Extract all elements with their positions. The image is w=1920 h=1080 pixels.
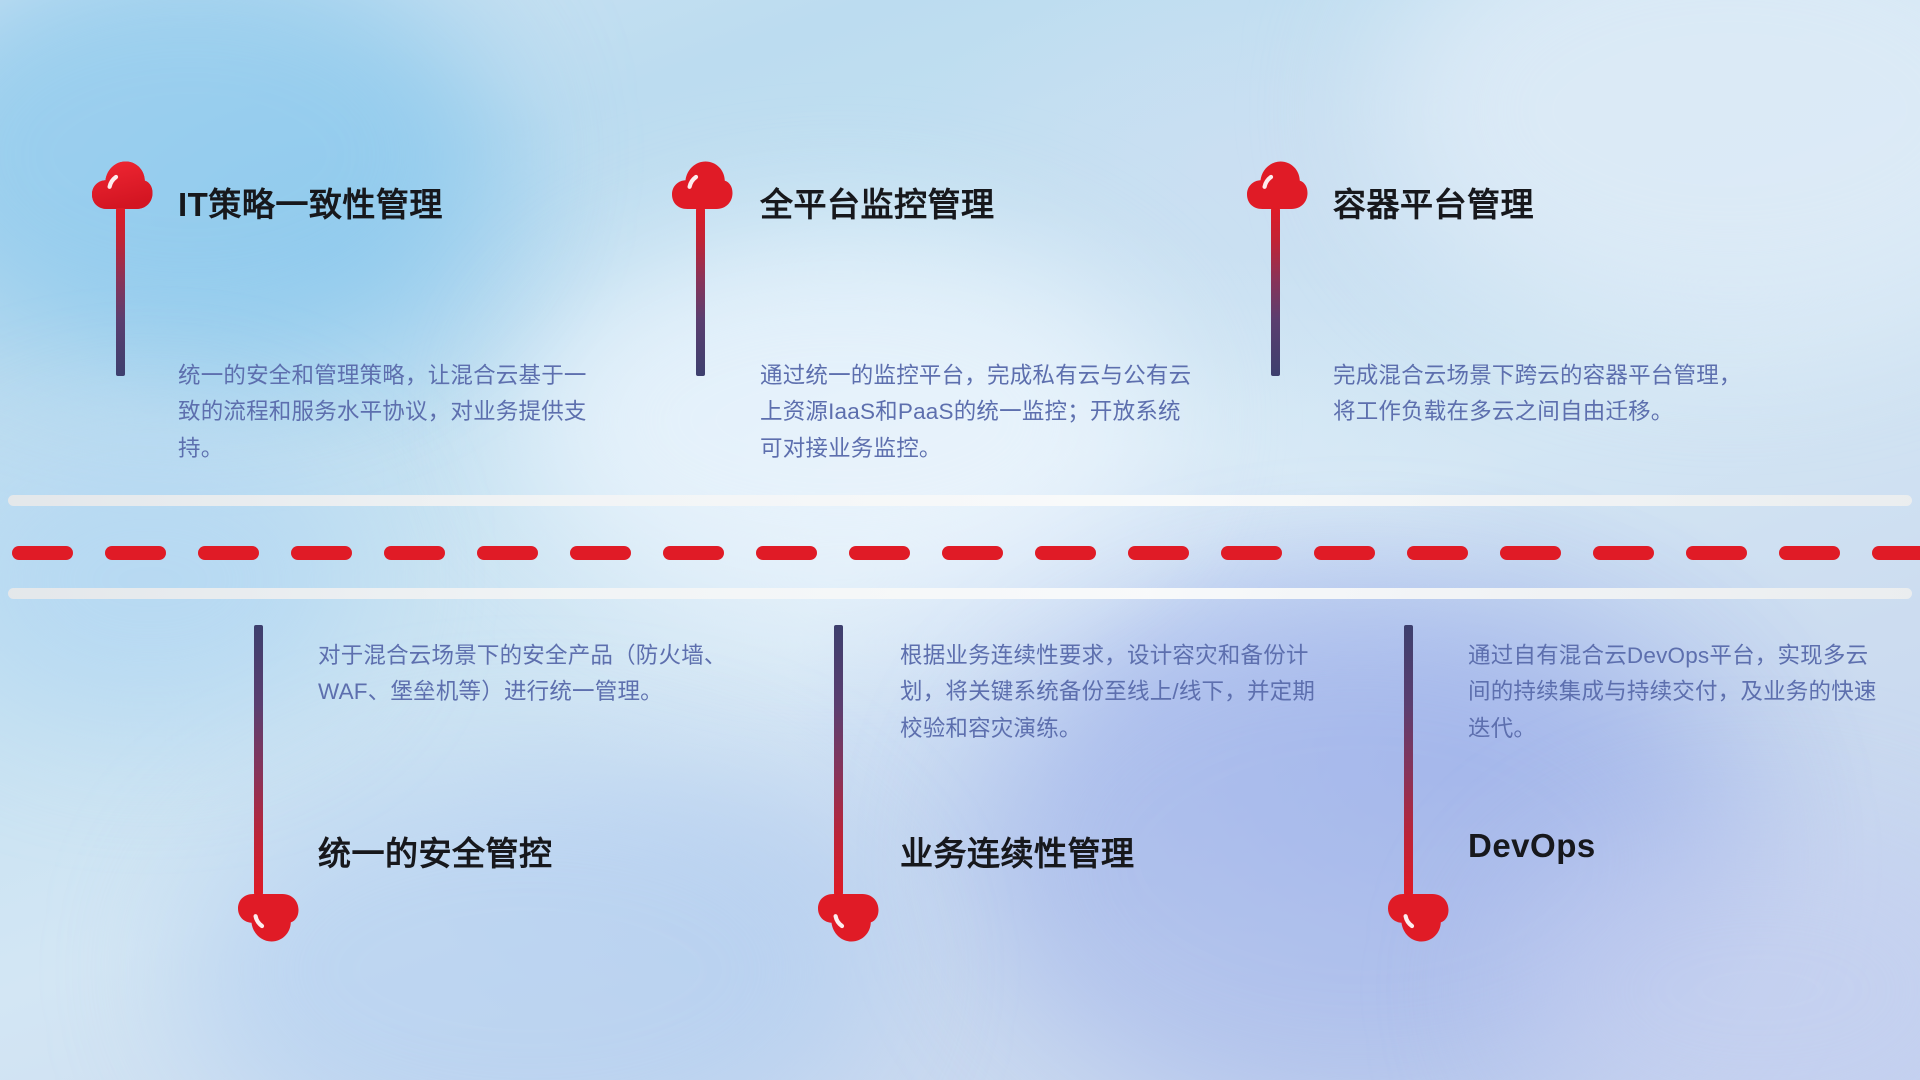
divider-dash — [1407, 546, 1468, 560]
divider-dash — [198, 546, 259, 560]
section-heading-business-continuity: 业务连续性管理 — [900, 827, 1135, 875]
section-body-it-policy: 统一的安全和管理策略，让混合云基于一致的流程和服务水平协议，对业务提供支持。 — [178, 358, 608, 467]
body-text: 统一的安全和管理策略，让混合云基于一致的流程和服务水平协议，对业务提供支持。 — [178, 358, 608, 467]
section-heading-platform-monitoring: 全平台监控管理 — [760, 178, 995, 226]
divider-dash — [849, 546, 910, 560]
divider-dash — [12, 546, 73, 560]
connector-stem — [1404, 625, 1413, 895]
cloud-icon — [816, 893, 880, 943]
divider-dash — [1872, 546, 1920, 560]
divider-dash — [1314, 546, 1375, 560]
section-body-devops: 通过自有混合云DevOps平台，实现多云间的持续集成与持续交付，及业务的快速迭代… — [1468, 638, 1888, 747]
divider-dash — [291, 546, 352, 560]
section-heading-unified-security: 统一的安全管控 — [318, 827, 553, 875]
cloud-icon — [670, 160, 734, 210]
connector-stem — [116, 208, 125, 376]
divider-dash — [1779, 546, 1840, 560]
body-text: 通过自有混合云DevOps平台，实现多云间的持续集成与持续交付，及业务的快速迭代… — [1468, 638, 1888, 747]
body-text: 通过统一的监控平台，完成私有云与公有云上资源IaaS和PaaS的统一监控；开放系… — [760, 358, 1198, 467]
divider-dash — [1593, 546, 1654, 560]
cloud-pin-top-1 — [90, 160, 154, 210]
background-blob — [1380, 0, 1920, 340]
cloud-pin-top-3 — [1245, 160, 1309, 210]
divider-dash — [756, 546, 817, 560]
connector-stem — [696, 208, 705, 376]
connector-stem — [834, 625, 843, 895]
section-heading-it-policy: IT策略一致性管理 — [178, 178, 443, 226]
divider-dash — [1128, 546, 1189, 560]
divider-dash — [1500, 546, 1561, 560]
cloud-icon — [1386, 893, 1450, 943]
cloud-pin-top-2 — [670, 160, 734, 210]
divider-dash — [105, 546, 166, 560]
body-text: 完成混合云场景下跨云的容器平台管理，将工作负载在多云之间自由迁移。 — [1333, 358, 1763, 431]
divider-dash — [570, 546, 631, 560]
divider-line-top — [8, 495, 1912, 506]
divider-dash — [1686, 546, 1747, 560]
cloud-icon — [236, 893, 300, 943]
section-body-platform-monitoring: 通过统一的监控平台，完成私有云与公有云上资源IaaS和PaaS的统一监控；开放系… — [760, 358, 1198, 467]
divider-dash — [942, 546, 1003, 560]
section-heading-devops: DevOps — [1468, 827, 1596, 865]
connector-stem — [1271, 208, 1280, 376]
divider-dash — [1035, 546, 1096, 560]
body-text: 对于混合云场景下的安全产品（防火墙、WAF、堡垒机等）进行统一管理。 — [318, 638, 738, 711]
infographic-canvas: IT策略一致性管理 统一的安全和管理策略，让混合云基于一致的流程和服务水平协议，… — [0, 0, 1920, 1080]
divider-dash — [384, 546, 445, 560]
cloud-icon — [1245, 160, 1309, 210]
section-heading-container-platform: 容器平台管理 — [1333, 178, 1534, 226]
divider-dash — [663, 546, 724, 560]
cloud-icon — [90, 160, 154, 210]
section-body-unified-security: 对于混合云场景下的安全产品（防火墙、WAF、堡垒机等）进行统一管理。 — [318, 638, 738, 711]
divider-dash — [1221, 546, 1282, 560]
connector-stem — [254, 625, 263, 895]
body-text: 根据业务连续性要求，设计容灾和备份计划，将关键系统备份至线上/线下，并定期校验和… — [900, 638, 1320, 747]
section-body-business-continuity: 根据业务连续性要求，设计容灾和备份计划，将关键系统备份至线上/线下，并定期校验和… — [900, 638, 1320, 747]
divider-dashed-line — [0, 546, 1920, 560]
section-body-container-platform: 完成混合云场景下跨云的容器平台管理，将工作负载在多云之间自由迁移。 — [1333, 358, 1763, 431]
divider-dash — [477, 546, 538, 560]
divider-line-bottom — [8, 588, 1912, 599]
background-blob — [0, 430, 360, 730]
